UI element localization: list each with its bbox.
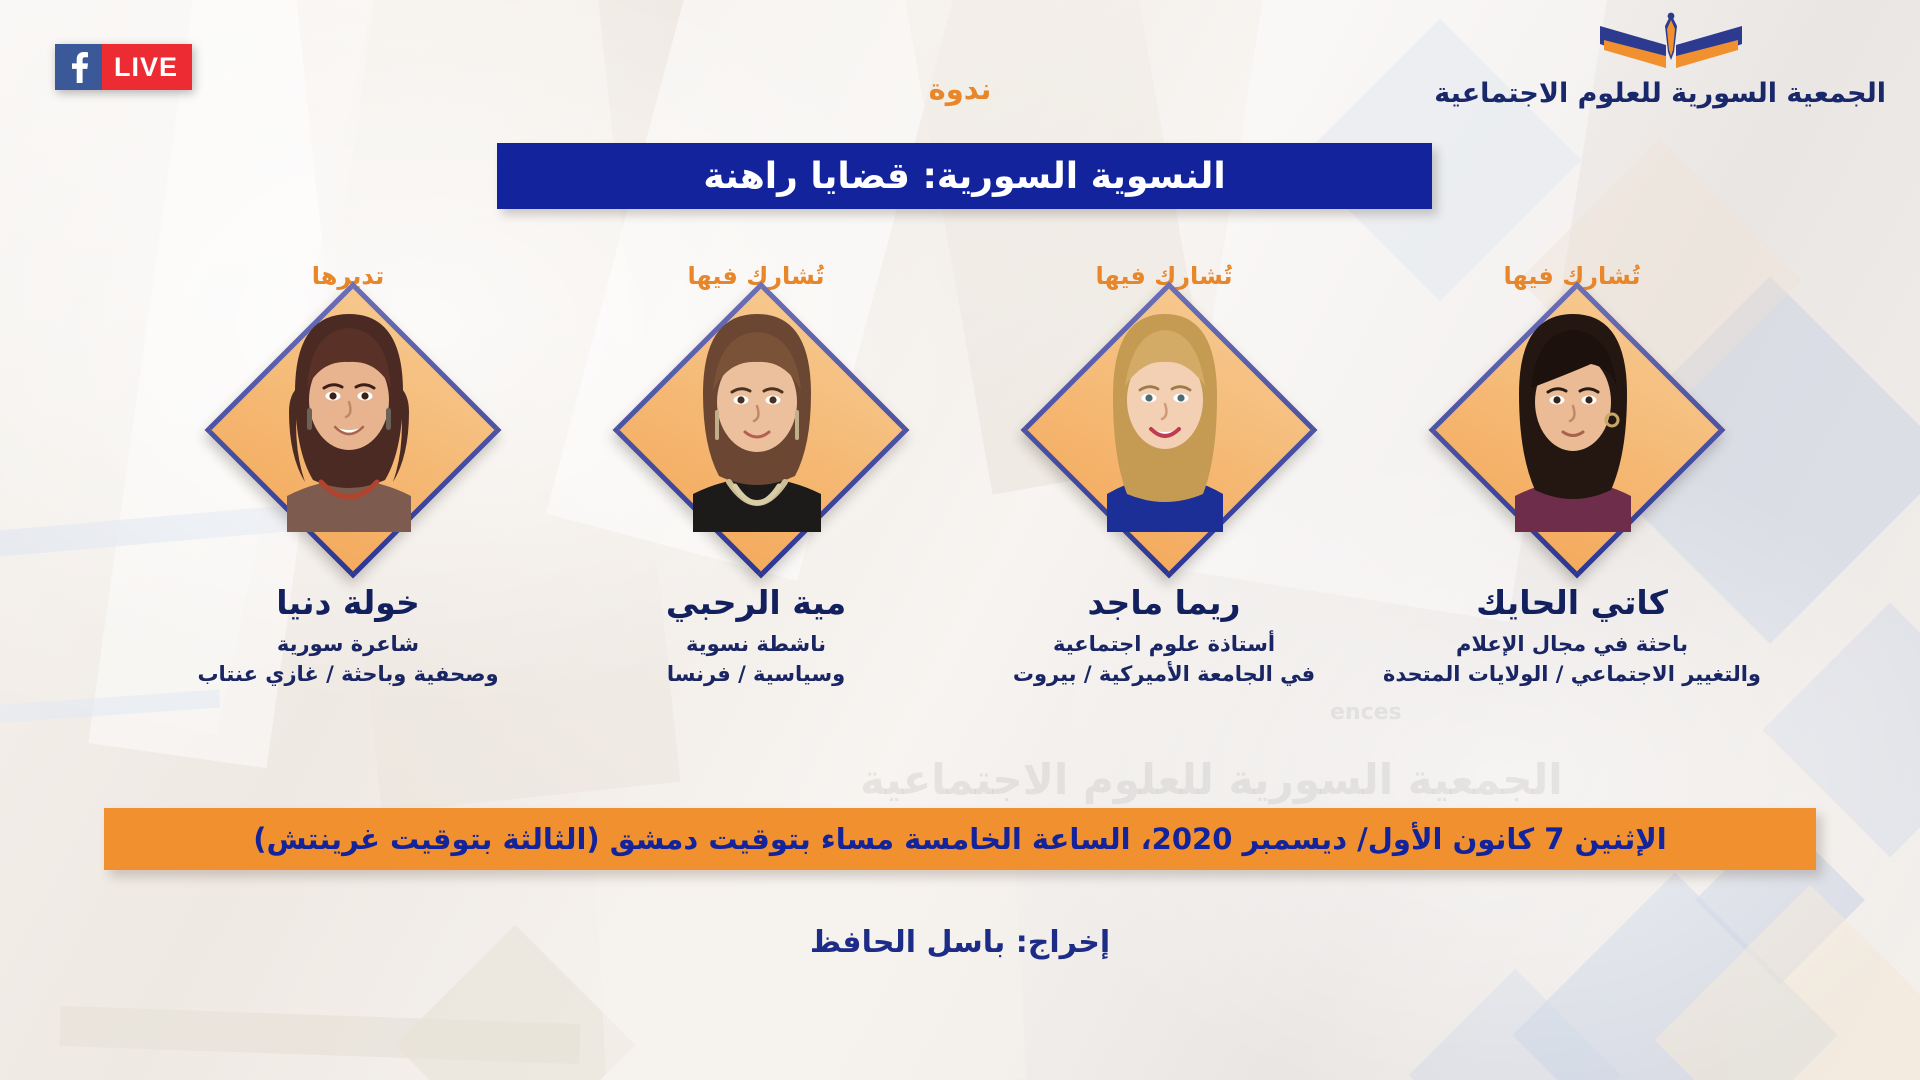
speaker-card: تُشارك فيها [1368,262,1776,690]
portrait-katy-alhayek [1493,296,1653,532]
speaker-name: مية الرحبي [666,586,846,621]
portrait-rima-majed [1085,296,1245,532]
portrait-khawla-dunia [269,296,429,532]
speaker-line-1: شاعرة سورية [277,629,419,659]
speaker-line-1: أستاذة علوم اجتماعية [1053,629,1275,659]
seminar-poster: الجمعية السورية للعلوم الاجتماعية ences … [0,0,1920,1080]
speaker-portrait [1457,310,1687,540]
speaker-line-2: والتغيير الاجتماعي / الولايات المتحدة [1383,659,1761,689]
speaker-portrait [641,310,871,540]
portrait-maya-alrahbi [677,296,837,532]
speaker-card: تُشارك فيها [552,262,960,690]
speaker-line-1: ناشطة نسوية [686,629,826,659]
open-book-icon [1456,12,1886,74]
speaker-line-2: في الجامعة الأميركية / بيروت [1013,659,1315,689]
seminar-title: النسوية السورية: قضايا راهنة [703,156,1225,197]
speaker-portrait [233,310,463,540]
speaker-card: تديرها [144,262,552,690]
speaker-line-2: وصحفية وباحثة / غازي عنتاب [197,659,498,689]
datetime-banner: الإثنين 7 كانون الأول/ ديسمبر 2020، السا… [104,808,1816,870]
speaker-card: تُشارك فيها [960,262,1368,690]
title-banner: النسوية السورية: قضايا راهنة [497,143,1432,209]
speaker-line-1: باحثة في مجال الإعلام [1456,629,1688,659]
speaker-name: خولة دنيا [276,586,420,621]
seminar-kicker: ندوة [0,72,1920,106]
speaker-name: كاتي الحايك [1476,586,1668,621]
datetime-text: الإثنين 7 كانون الأول/ ديسمبر 2020، السا… [253,822,1667,856]
speaker-name: ريما ماجد [1087,586,1240,621]
director-credit: إخراج: باسل الحافظ [0,925,1920,960]
speakers-row: تديرها [0,262,1920,762]
speaker-portrait [1049,310,1279,540]
speaker-line-2: وسياسية / فرنسا [667,659,845,689]
